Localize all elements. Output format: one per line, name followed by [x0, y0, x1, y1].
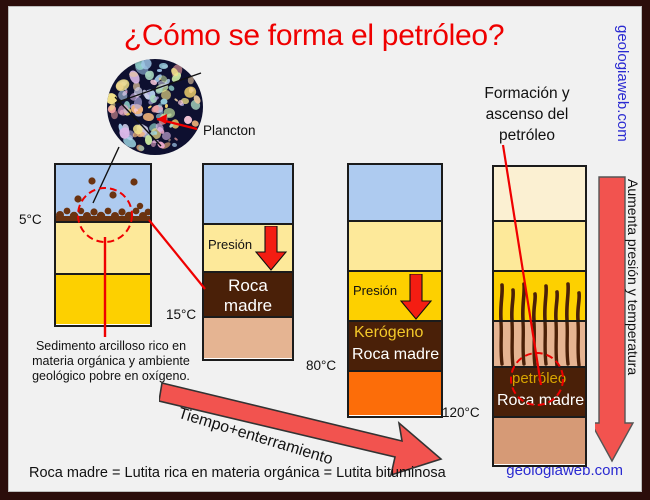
stage-2-column: Presión Roca madre: [202, 163, 294, 361]
stage-2-layer-basement: [204, 318, 292, 358]
stage-3-layer-overburden: [349, 222, 441, 272]
oil-formation-heading: Formación y ascenso del petróleo: [457, 83, 597, 146]
stage-3-layer-kerogen: Kerógeno Roca madre: [349, 322, 441, 372]
pressure-arrow-down-icon: [254, 226, 288, 272]
stage1-to-stage2-leader: [149, 220, 205, 289]
stage-2-source-rock-label: Roca madre: [204, 276, 292, 316]
stage-2-pressure-label: Presión: [208, 237, 252, 252]
infographic-canvas: ¿Cómo se forma el petróleo? geologiaweb.…: [0, 0, 650, 500]
stage-1-layer-gold-sediment: [56, 275, 150, 324]
stage-2-layer-water: [204, 165, 292, 225]
stage-4-layer-reservoir: [494, 322, 585, 368]
watermark-vertical: geologiaweb.com: [614, 25, 631, 142]
plankton-label: Plancton: [203, 123, 256, 138]
stage-4-oil-label: petróleo: [512, 370, 566, 387]
stage-3-pressure-label: Presión: [353, 283, 397, 298]
stage-1-layer-water: [56, 165, 150, 223]
stage-3-layer-water: [349, 165, 441, 222]
stage-1-temperature: 5°C: [19, 212, 42, 227]
stage-4-layer-basement: [494, 418, 585, 464]
stage-3-layer-pressure: Presión: [349, 272, 441, 322]
stage-4-column: petróleo Roca madre: [492, 165, 587, 467]
stage-2-layer-source-rock: Roca madre: [204, 273, 292, 318]
stage-2-temperature: 15°C: [166, 307, 196, 322]
stage-1-layer-light-sediment: [56, 223, 150, 275]
footer-note: Roca madre = Lutita rica en materia orgá…: [29, 465, 446, 481]
stage-1-column: [54, 163, 152, 327]
stage-3-temperature: 80°C: [306, 358, 336, 373]
stage-4-layer-oil-source-rock: petróleo Roca madre: [494, 368, 585, 418]
stage-4-layer-second: [494, 222, 585, 272]
stage-3-kerogen-label: Kerógeno: [354, 324, 423, 342]
increase-pressure-temperature-label: Aumenta presión y temperatura: [625, 179, 641, 459]
poster-frame: ¿Cómo se forma el petróleo? geologiaweb.…: [8, 6, 642, 492]
stage-4-layer-migration: [494, 272, 585, 322]
stage-3-source-rock-label: Roca madre: [352, 346, 439, 364]
stage-4-source-rock-label: Roca madre: [497, 392, 584, 410]
page-title: ¿Cómo se forma el petróleo?: [9, 19, 619, 53]
plankton-circle-icon: [107, 59, 203, 155]
stage-4-layer-top: [494, 167, 585, 222]
pressure-arrow-down-icon: [399, 274, 433, 322]
stage-2-layer-overburden: Presión: [204, 225, 292, 273]
